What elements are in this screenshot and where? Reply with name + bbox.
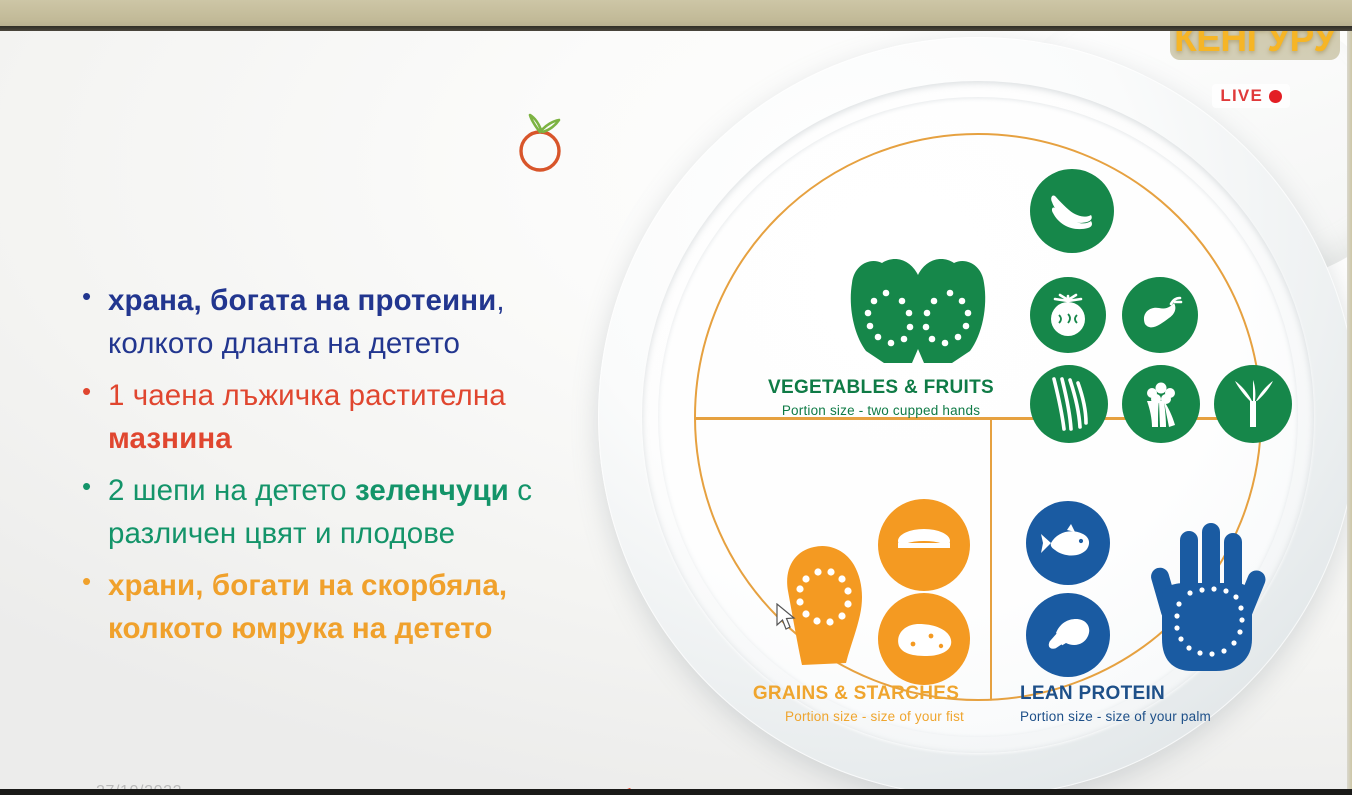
bullet-bold-text: мазнина (108, 422, 232, 455)
live-label: LIVE (1220, 86, 1263, 106)
broccoli-icon (1122, 365, 1200, 443)
bullet-lead-text: 2 шепи на детето (108, 474, 355, 507)
top-letterbox-band (0, 0, 1352, 26)
quadrant-subheading: Portion size - size of your fist (748, 708, 964, 725)
potato-icon (878, 593, 970, 685)
bottom-letterbox-band (0, 789, 1352, 795)
bullet-bold-text: храни, богати на скорбяла, (108, 569, 507, 602)
bullet-second-line: колкото юмрука на детето (108, 612, 492, 645)
quadrant-heading: GRAINS & STARCHES (748, 683, 964, 705)
list-item: храна, богата на протеини, колкото длант… (78, 279, 638, 365)
right-edge-band (1347, 0, 1352, 795)
presentation-slide: храна, богата на протеини, колкото длант… (0, 31, 1347, 789)
bullet-second-line: колкото дланта на детето (108, 327, 460, 360)
quadrant-subheading: Portion size - size of your palm (1020, 708, 1240, 725)
two-cupped-hands-icon (844, 253, 992, 373)
quadrant-label-grains-starches: GRAINS & STARCHES Portion size - size of… (748, 683, 964, 725)
orange-fruit-icon (508, 109, 572, 173)
quadrant-heading: VEGETABLES & FRUITS (766, 377, 996, 399)
live-indicator-dot (1269, 90, 1282, 103)
mouse-pointer (775, 603, 797, 633)
list-item: храни, богати на скорбяла, колкото юмрук… (78, 564, 638, 650)
fish-icon (1026, 501, 1110, 585)
eggplant-icon (1122, 277, 1198, 353)
broadcast-frame: храна, богата на протеини, колкото длант… (0, 0, 1352, 795)
green-beans-icon (1030, 365, 1108, 443)
open-palm-icon (1128, 509, 1284, 689)
svg-text:The wellness plate: The wellness plate (780, 33, 1166, 39)
list-item: 1 чаена лъжичка растителна мазнина (78, 374, 638, 460)
top-letterbox-line (0, 26, 1352, 31)
plate-title: The wellness plate (676, 33, 1276, 213)
leek-icon (1214, 365, 1292, 443)
tomato-icon (1030, 277, 1106, 353)
live-badge: LIVE (1212, 84, 1290, 108)
quadrant-subheading: Portion size - two cupped hands (766, 402, 996, 419)
plate-title-text: The wellness plate (780, 33, 1166, 39)
bullet-bold-text: зеленчуци (355, 474, 509, 507)
bullet-lead-text: 1 чаена лъжичка растителна (108, 379, 506, 412)
quadrant-heading: LEAN PROTEIN (1020, 683, 1240, 705)
bullet-second-line: различен цвят и плодове (108, 517, 455, 550)
bullet-bold-text: храна, богата на протеини (108, 284, 496, 317)
bread-roll-icon (878, 499, 970, 591)
wellness-plate-graphic: The wellness plate (598, 37, 1347, 789)
quadrant-label-vegetables-fruits: VEGETABLES & FRUITS Portion size - two c… (766, 377, 996, 419)
quadrant-label-lean-protein: LEAN PROTEIN Portion size - size of your… (1020, 683, 1240, 725)
vertical-divider (990, 417, 992, 701)
chicken-drumstick-icon (1026, 593, 1110, 677)
bullet-rest-text: , (496, 284, 504, 317)
list-item: 2 шепи на детето зеленчуци с различен цв… (78, 469, 638, 555)
bullet-list: храна, богата на протеини, колкото длант… (78, 279, 638, 660)
bullet-rest-text: с (509, 474, 532, 507)
